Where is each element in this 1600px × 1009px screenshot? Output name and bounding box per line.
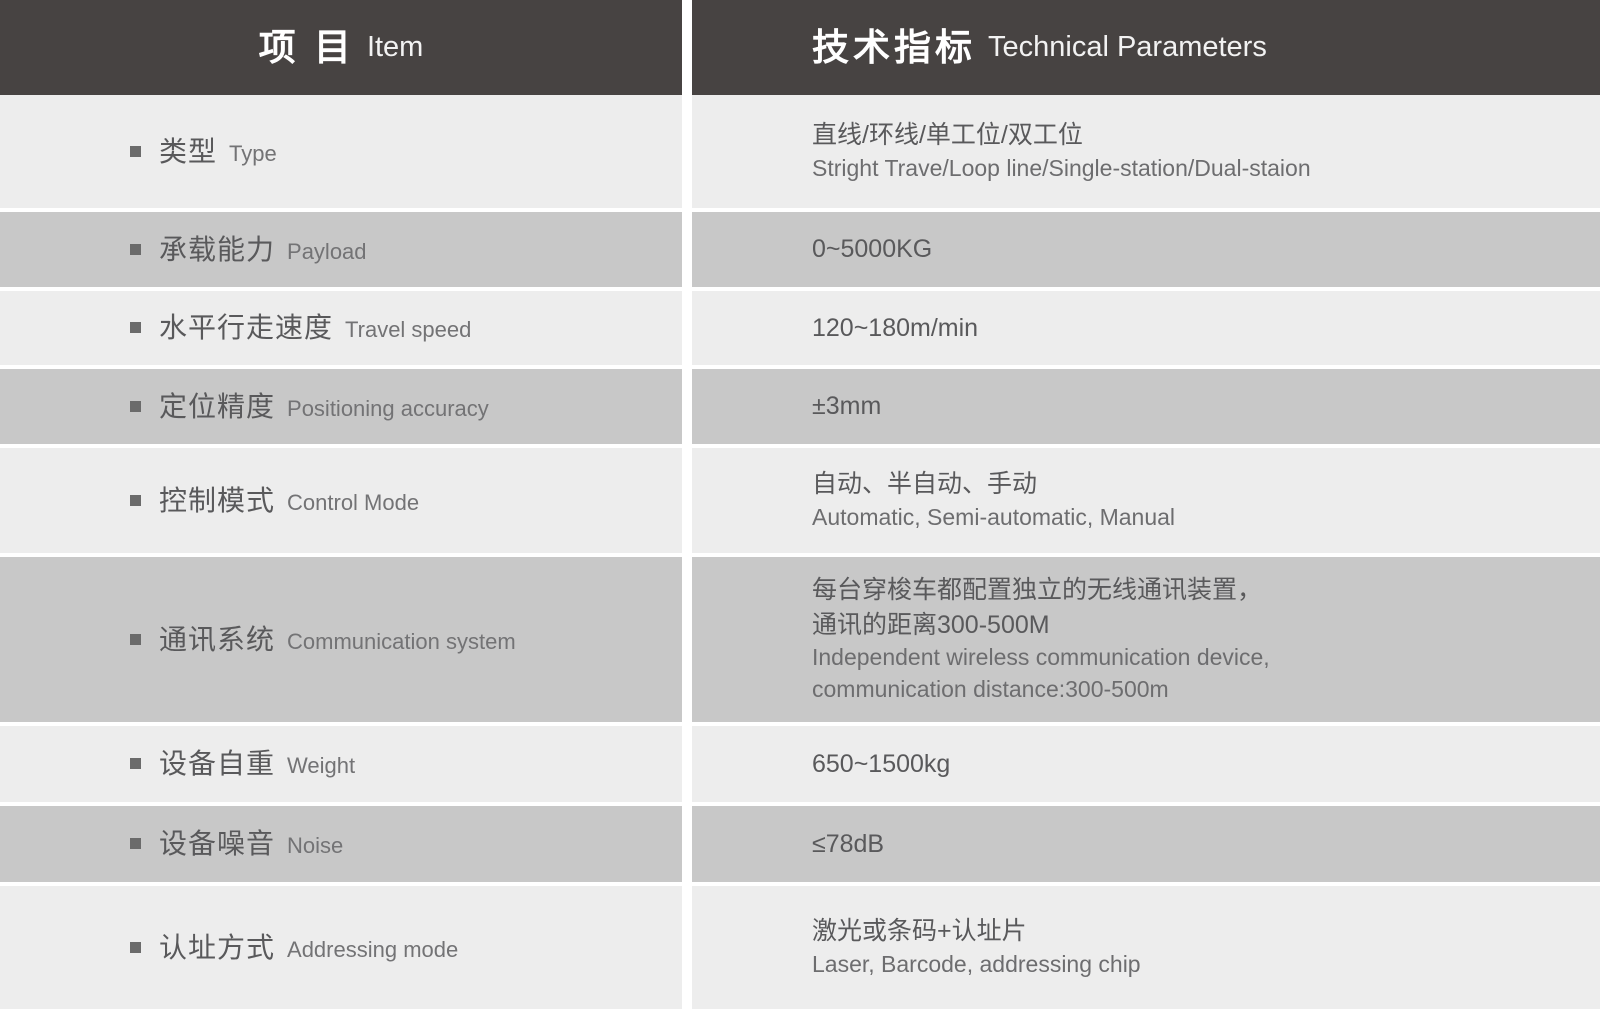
table-row: 承载能力Payload0~5000KG bbox=[0, 212, 1600, 287]
row-cell-parameter: 120~180m/min bbox=[692, 291, 1600, 365]
header-cell-item: 项 目 Item bbox=[0, 0, 682, 95]
row-cell-item: 设备自重Weight bbox=[0, 726, 682, 802]
parameter-text-group: 激光或条码+认址片Laser, Barcode, addressing chip bbox=[812, 914, 1141, 980]
parameter-value-cn: 120~180m/min bbox=[812, 311, 978, 346]
parameter-value-en: Automatic, Semi-automatic, Manual bbox=[812, 502, 1175, 534]
parameter-text-group: 120~180m/min bbox=[812, 311, 978, 346]
parameter-value-cn: 激光或条码+认址片 bbox=[812, 914, 1141, 949]
table-body: 类型Type直线/环线/单工位/双工位Stright Trave/Loop li… bbox=[0, 95, 1600, 1009]
parameter-value-en: Laser, Barcode, addressing chip bbox=[812, 949, 1141, 981]
row-cell-item: 控制模式Control Mode bbox=[0, 448, 682, 553]
parameter-value-cn: 自动、半自动、手动 bbox=[812, 467, 1175, 502]
item-label-cn: 承载能力 bbox=[159, 236, 275, 264]
row-cell-parameter: ±3mm bbox=[692, 369, 1600, 444]
item-label-en: Control Mode bbox=[287, 492, 419, 514]
item-label-cn: 通讯系统 bbox=[159, 626, 275, 654]
table-row: 水平行走速度Travel speed120~180m/min bbox=[0, 291, 1600, 365]
item-label-group: 设备自重Weight bbox=[130, 750, 355, 778]
item-label-en: Travel speed bbox=[345, 319, 471, 341]
table-row: 定位精度Positioning accuracy±3mm bbox=[0, 369, 1600, 444]
row-cell-item: 通讯系统Communication system bbox=[0, 557, 682, 722]
header-parameters-label-cn: 技术指标 bbox=[812, 29, 976, 66]
table-row: 类型Type直线/环线/单工位/双工位Stright Trave/Loop li… bbox=[0, 95, 1600, 208]
row-cell-parameter: 650~1500kg bbox=[692, 726, 1600, 802]
parameter-text-group: 直线/环线/单工位/双工位Stright Trave/Loop line/Sin… bbox=[812, 118, 1311, 184]
parameter-value-en: Stright Trave/Loop line/Single-station/D… bbox=[812, 153, 1311, 185]
item-label-en: Weight bbox=[287, 755, 355, 777]
parameter-value-cn: ≤78dB bbox=[812, 827, 884, 862]
item-label-en: Addressing mode bbox=[287, 939, 458, 961]
parameter-value-cn: 0~5000KG bbox=[812, 232, 932, 267]
parameter-text-group: ≤78dB bbox=[812, 827, 884, 862]
square-bullet-icon bbox=[130, 495, 141, 506]
specification-table: 项 目 Item 技术指标 Technical Parameters 类型Typ… bbox=[0, 0, 1600, 1009]
row-cell-item: 设备噪音Noise bbox=[0, 806, 682, 882]
parameter-value-cn: ±3mm bbox=[812, 389, 881, 424]
table-row: 认址方式Addressing mode激光或条码+认址片Laser, Barco… bbox=[0, 886, 1600, 1009]
row-cell-item: 类型Type bbox=[0, 95, 682, 208]
table-header-row: 项 目 Item 技术指标 Technical Parameters bbox=[0, 0, 1600, 95]
square-bullet-icon bbox=[130, 758, 141, 769]
item-label-cn: 水平行走速度 bbox=[159, 314, 333, 342]
square-bullet-icon bbox=[130, 838, 141, 849]
parameter-text-group: 650~1500kg bbox=[812, 747, 950, 782]
square-bullet-icon bbox=[130, 322, 141, 333]
row-cell-parameter: 0~5000KG bbox=[692, 212, 1600, 287]
item-label-en: Communication system bbox=[287, 631, 516, 653]
item-label-cn: 设备噪音 bbox=[159, 830, 275, 858]
table-row: 设备噪音Noise≤78dB bbox=[0, 806, 1600, 882]
item-label-en: Type bbox=[229, 143, 277, 165]
table-row: 设备自重Weight650~1500kg bbox=[0, 726, 1600, 802]
parameter-value-cn: 直线/环线/单工位/双工位 bbox=[812, 118, 1311, 153]
row-cell-item: 认址方式Addressing mode bbox=[0, 886, 682, 1009]
square-bullet-icon bbox=[130, 401, 141, 412]
table-row: 通讯系统Communication system每台穿梭车都配置独立的无线通讯装… bbox=[0, 557, 1600, 722]
header-item-label-cn: 项 目 bbox=[259, 29, 355, 66]
header-cell-parameters: 技术指标 Technical Parameters bbox=[692, 0, 1600, 95]
table-row: 控制模式Control Mode自动、半自动、手动Automatic, Semi… bbox=[0, 448, 1600, 553]
parameter-value-en-line-2: communication distance:300-500m bbox=[812, 674, 1270, 706]
item-label-cn: 类型 bbox=[159, 138, 217, 166]
square-bullet-icon bbox=[130, 146, 141, 157]
parameter-value-en: Independent wireless communication devic… bbox=[812, 642, 1270, 674]
item-label-cn: 控制模式 bbox=[159, 487, 275, 515]
item-label-group: 承载能力Payload bbox=[130, 236, 367, 264]
item-label-group: 控制模式Control Mode bbox=[130, 487, 419, 515]
item-label-cn: 设备自重 bbox=[159, 750, 275, 778]
square-bullet-icon bbox=[130, 634, 141, 645]
square-bullet-icon bbox=[130, 244, 141, 255]
parameter-value-cn: 每台穿梭车都配置独立的无线通讯装置， bbox=[812, 573, 1270, 608]
parameter-text-group: ±3mm bbox=[812, 389, 881, 424]
item-label-en: Noise bbox=[287, 835, 343, 857]
item-label-group: 认址方式Addressing mode bbox=[130, 934, 458, 962]
header-parameters-label-en: Technical Parameters bbox=[988, 33, 1267, 62]
parameter-value-cn-line-2: 通讯的距离300-500M bbox=[812, 608, 1270, 643]
parameter-text-group: 0~5000KG bbox=[812, 232, 932, 267]
row-cell-parameter: ≤78dB bbox=[692, 806, 1600, 882]
row-cell-item: 承载能力Payload bbox=[0, 212, 682, 287]
row-cell-item: 定位精度Positioning accuracy bbox=[0, 369, 682, 444]
item-label-group: 类型Type bbox=[130, 138, 277, 166]
item-label-cn: 定位精度 bbox=[159, 393, 275, 421]
item-label-en: Positioning accuracy bbox=[287, 398, 489, 420]
row-cell-item: 水平行走速度Travel speed bbox=[0, 291, 682, 365]
item-label-group: 水平行走速度Travel speed bbox=[130, 314, 471, 342]
item-label-en: Payload bbox=[287, 241, 367, 263]
row-cell-parameter: 直线/环线/单工位/双工位Stright Trave/Loop line/Sin… bbox=[692, 95, 1600, 208]
parameter-text-group: 每台穿梭车都配置独立的无线通讯装置，通讯的距离300-500MIndepende… bbox=[812, 573, 1270, 705]
item-label-group: 设备噪音Noise bbox=[130, 830, 343, 858]
row-cell-parameter: 自动、半自动、手动Automatic, Semi-automatic, Manu… bbox=[692, 448, 1600, 553]
row-cell-parameter: 激光或条码+认址片Laser, Barcode, addressing chip bbox=[692, 886, 1600, 1009]
item-label-group: 定位精度Positioning accuracy bbox=[130, 393, 489, 421]
item-label-group: 通讯系统Communication system bbox=[130, 626, 516, 654]
item-label-cn: 认址方式 bbox=[159, 934, 275, 962]
parameter-value-cn: 650~1500kg bbox=[812, 747, 950, 782]
header-item-label-en: Item bbox=[367, 33, 423, 62]
row-cell-parameter: 每台穿梭车都配置独立的无线通讯装置，通讯的距离300-500MIndepende… bbox=[692, 557, 1600, 722]
square-bullet-icon bbox=[130, 942, 141, 953]
parameter-text-group: 自动、半自动、手动Automatic, Semi-automatic, Manu… bbox=[812, 467, 1175, 533]
